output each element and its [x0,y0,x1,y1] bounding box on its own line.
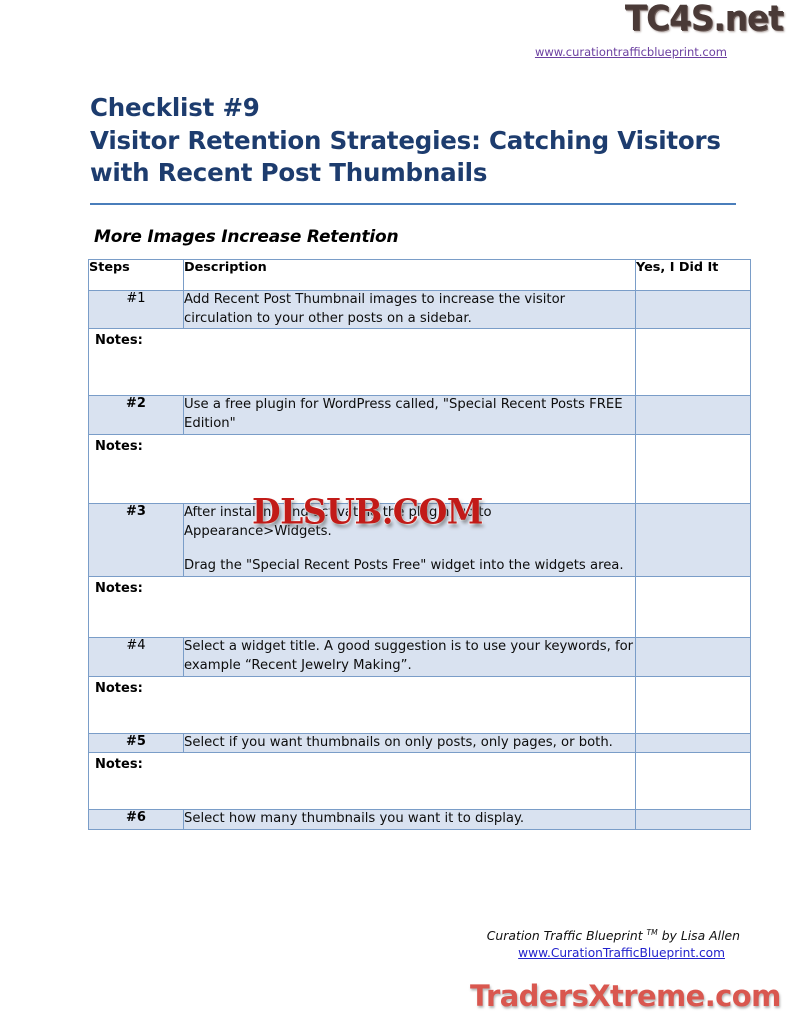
notes-yes-cell[interactable] [636,753,751,810]
notes-yes-cell[interactable] [636,434,751,503]
page-title: Checklist #9 Visitor Retention Strategie… [90,92,738,190]
title-line-1: Checklist #9 [90,92,738,125]
column-header-description: Description [184,260,636,291]
column-header-yes-i-did-it: Yes, I Did It [636,260,751,291]
notes-field[interactable]: Notes: [89,753,636,810]
step-number-cell: #1 [89,291,184,329]
notes-field[interactable]: Notes: [89,577,636,638]
tc4s-watermark: TC4S.net [625,2,783,37]
yes-i-did-it-checkbox-cell[interactable] [636,638,751,676]
notes-row: Notes: [89,329,751,396]
footer-trademark-mark: TM [647,928,658,937]
notes-field[interactable]: Notes: [89,676,636,733]
step-number-cell: #3 [89,503,184,576]
step-description-cell: Select if you want thumbnails on only po… [184,733,636,753]
header-url-link[interactable]: www.curationtrafficblueprint.com [535,45,727,59]
section-subtitle: More Images Increase Retention [94,227,398,247]
yes-i-did-it-checkbox-cell[interactable] [636,733,751,753]
table-body: #1Add Recent Post Thumbnail images to in… [89,291,751,830]
footer-credit-prefix: Curation Traffic Blueprint [487,928,647,943]
notes-row: Notes: [89,753,751,810]
yes-i-did-it-checkbox-cell[interactable] [636,291,751,329]
notes-yes-cell[interactable] [636,577,751,638]
table-row: #6Select how many thumbnails you want it… [89,810,751,830]
step-description-cell: Select a widget title. A good suggestion… [184,638,636,676]
footer-url-link[interactable]: www.CurationTrafficBlueprint.com [0,946,725,960]
table-row: #4Select a widget title. A good suggesti… [89,638,751,676]
notes-yes-cell[interactable] [636,676,751,733]
step-number-cell: #2 [89,396,184,434]
step-description-cell: Use a free plugin for WordPress called, … [184,396,636,434]
yes-i-did-it-checkbox-cell[interactable] [636,503,751,576]
table-row: #5Select if you want thumbnails on only … [89,733,751,753]
footer-credit: Curation Traffic Blueprint TM by Lisa Al… [0,928,740,943]
notes-row: Notes: [89,577,751,638]
step-number-cell: #6 [89,810,184,830]
table-row: #1Add Recent Post Thumbnail images to in… [89,291,751,329]
title-divider [90,203,736,205]
description-paragraph: Use a free plugin for WordPress called, … [184,396,635,433]
notes-row: Notes: [89,676,751,733]
title-line-2: Visitor Retention Strategies: Catching V… [90,125,738,158]
step-description-cell: Add Recent Post Thumbnail images to incr… [184,291,636,329]
footer-credit-suffix: by Lisa Allen [658,928,740,943]
notes-yes-cell[interactable] [636,329,751,396]
checklist-table: Steps Description Yes, I Did It #1Add Re… [88,259,751,830]
yes-i-did-it-checkbox-cell[interactable] [636,396,751,434]
title-line-3: with Recent Post Thumbnails [90,157,738,190]
tradersxtreme-watermark: TradersXtreme.com [470,982,781,1011]
step-number-cell: #5 [89,733,184,753]
yes-i-did-it-checkbox-cell[interactable] [636,810,751,830]
notes-field[interactable]: Notes: [89,329,636,396]
column-header-steps: Steps [89,260,184,291]
step-number-cell: #4 [89,638,184,676]
description-paragraph: Drag the "Special Recent Posts Free" wid… [184,557,635,576]
step-description-cell: Select how many thumbnails you want it t… [184,810,636,830]
dlsub-watermark: DLSUB.COM [252,494,483,529]
description-paragraph: Select a widget title. A good suggestion… [184,638,635,675]
description-paragraph: Select how many thumbnails you want it t… [184,810,635,829]
table-row: #2Use a free plugin for WordPress called… [89,396,751,434]
table-header-row: Steps Description Yes, I Did It [89,260,751,291]
description-paragraph: Add Recent Post Thumbnail images to incr… [184,291,635,328]
description-paragraph: Select if you want thumbnails on only po… [184,734,635,753]
